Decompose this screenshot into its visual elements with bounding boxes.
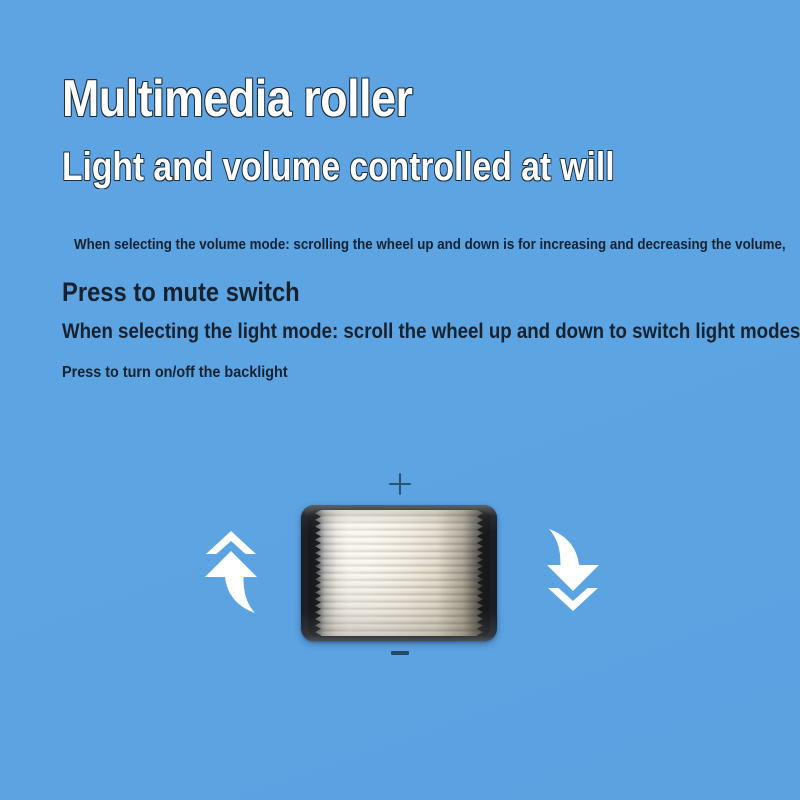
page-subtitle: Light and volume controlled at will	[62, 146, 615, 188]
plus-icon	[389, 473, 411, 495]
minus-icon	[391, 651, 409, 655]
light-mode-description: When selecting the light mode: scroll th…	[62, 320, 800, 344]
page-title: Multimedia roller	[62, 72, 413, 127]
volume-mode-description: When selecting the volume mode: scrollin…	[74, 237, 786, 253]
roller-diagram	[0, 455, 800, 685]
multimedia-roller-wheel[interactable]	[301, 505, 497, 641]
scroll-down-arrow-icon	[542, 525, 604, 617]
scroll-up-arrow-icon	[200, 525, 262, 617]
backlight-toggle-label: Press to turn on/off the backlight	[62, 364, 288, 382]
product-feature-slide: Multimedia roller Light and volume contr…	[0, 0, 800, 800]
roller-curvature-shading	[308, 510, 490, 636]
roller-wheel-surface	[308, 510, 490, 636]
roller-teeth-left-icon	[308, 510, 321, 636]
roller-teeth-right-icon	[477, 510, 490, 636]
mute-switch-label: Press to mute switch	[62, 277, 300, 308]
